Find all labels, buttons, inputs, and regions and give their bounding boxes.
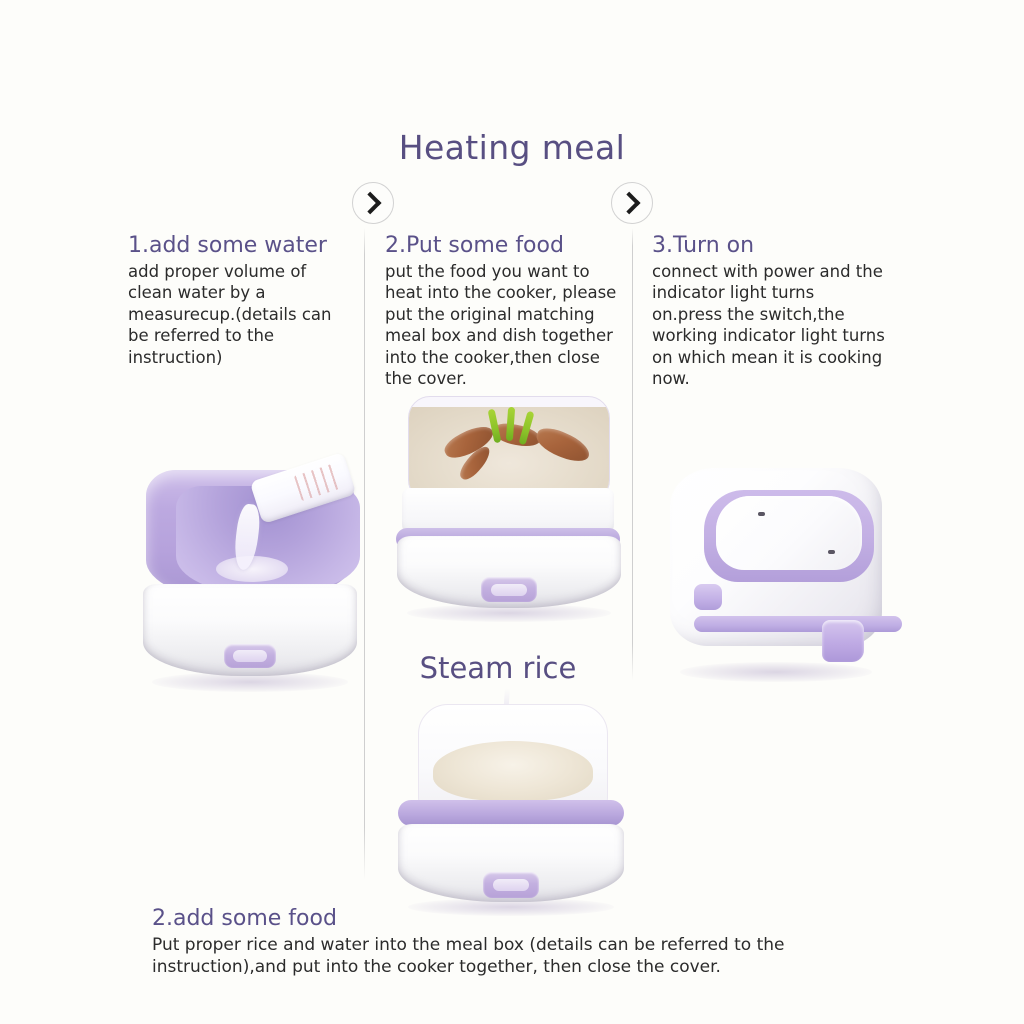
product-photo-pouring-water <box>128 462 372 694</box>
steam-vent <box>828 550 835 554</box>
step-1-block: 1.add some water add proper volume of cl… <box>128 233 354 368</box>
front-switch-latch <box>694 584 722 610</box>
bottom-caption-block: 2.add some food Put proper rice and wate… <box>152 906 912 979</box>
pot-rim <box>398 800 624 826</box>
cooker-body <box>670 468 882 646</box>
front-switch-latch <box>224 644 276 668</box>
infographic-page: Heating meal 1.add some water add proper… <box>0 0 1024 1024</box>
clear-meal-box <box>408 396 610 502</box>
bottom-caption-heading: 2.add some food <box>152 906 912 932</box>
measure-markings <box>294 463 344 501</box>
side-latch-clip <box>822 620 864 662</box>
chevron-right-icon <box>611 182 653 224</box>
product-photo-closed-cooker <box>648 440 904 690</box>
chevron-glyph <box>359 192 382 215</box>
steam-vent <box>758 512 765 516</box>
mid-seal-band <box>694 616 902 632</box>
lid-plate <box>716 496 862 570</box>
chevron-glyph <box>618 192 641 215</box>
page-title: Heating meal <box>0 128 1024 167</box>
step-2-body: put the food you want to heat into the c… <box>385 261 625 390</box>
chevron-right-icon <box>352 182 394 224</box>
step-1-heading: 1.add some water <box>128 233 354 259</box>
product-photo-steam-rice <box>384 692 638 916</box>
bottom-caption-body: Put proper rice and water into the meal … <box>152 934 912 979</box>
drop-shadow <box>680 662 872 682</box>
step-2-block: 2.Put some food put the food you want to… <box>385 233 625 390</box>
front-switch-latch <box>483 872 539 898</box>
front-switch-latch <box>481 577 537 602</box>
step-3-heading: 3.Turn on <box>652 233 888 259</box>
cooked-rice <box>433 741 593 801</box>
step-2-heading: 2.Put some food <box>385 233 625 259</box>
step-1-body: add proper volume of clean water by a me… <box>128 261 354 368</box>
section-title-steam-rice: Steam rice <box>364 651 632 685</box>
step-3-block: 3.Turn on connect with power and the ind… <box>652 233 888 390</box>
step-3-body: connect with power and the indicator lig… <box>652 261 888 390</box>
product-photo-food-in-box <box>384 392 634 622</box>
